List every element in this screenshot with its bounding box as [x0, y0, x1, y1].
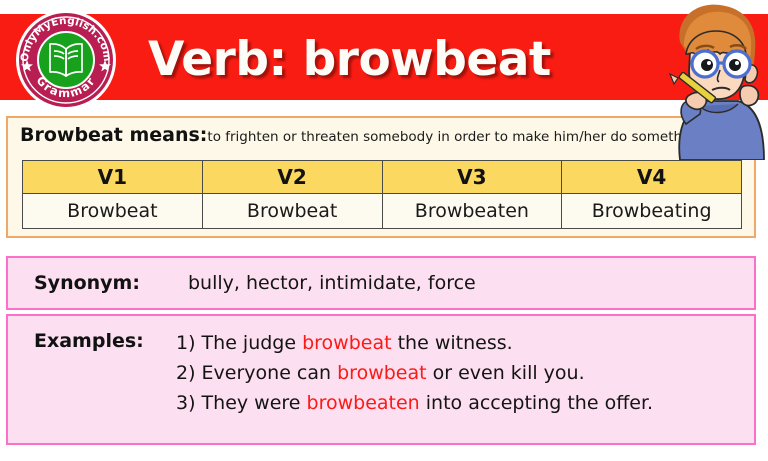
synonym-value: bully, hector, intimidate, force [188, 272, 476, 294]
definition-label: Browbeat means: [20, 124, 207, 146]
example-prefix: 2) Everyone can [176, 362, 337, 384]
examples-list: 1) The judge browbeat the witness.2) Eve… [176, 328, 744, 418]
example-suffix: into accepting the offer. [420, 392, 653, 414]
examples-label: Examples: [34, 330, 144, 352]
column-header-v2: V2 [202, 161, 382, 194]
verb-form-v3: Browbeaten [382, 194, 562, 229]
verb-forms-table: V1 V2 V3 V4 Browbeat Browbeat Browbeaten… [22, 160, 742, 229]
verb-form-v2: Browbeat [202, 194, 382, 229]
column-header-v4: V4 [562, 161, 742, 194]
definition-box: Browbeat means:to frighten or threaten s… [6, 116, 756, 238]
example-suffix: or even kill you. [427, 362, 585, 384]
synonym-box: Synonym: bully, hector, intimidate, forc… [6, 256, 756, 310]
example-prefix: 1) The judge [176, 332, 302, 354]
examples-box: Examples: 1) The judge browbeat the witn… [6, 314, 756, 445]
example-item: 2) Everyone can browbeat or even kill yo… [176, 358, 744, 388]
verb-form-v1: Browbeat [23, 194, 203, 229]
example-highlight: browbeaten [307, 392, 420, 414]
table-row: Browbeat Browbeat Browbeaten Browbeating [23, 194, 742, 229]
example-highlight: browbeat [302, 332, 391, 354]
example-prefix: 3) They were [176, 392, 307, 414]
logo-badge-icon: OnlyMyEnglish.com Grammar [14, 8, 118, 112]
definition-line: Browbeat means:to frighten or threaten s… [20, 124, 746, 146]
page-title: Verb: browbeat [148, 32, 551, 87]
site-logo[interactable]: OnlyMyEnglish.com Grammar [14, 8, 118, 112]
synonym-label: Synonym: [34, 272, 140, 294]
verb-form-v4: Browbeating [562, 194, 742, 229]
column-header-v3: V3 [382, 161, 562, 194]
example-highlight: browbeat [337, 362, 426, 384]
definition-text: to frighten or threaten somebody in orde… [207, 129, 703, 145]
example-item: 1) The judge browbeat the witness. [176, 328, 744, 358]
table-header-row: V1 V2 V3 V4 [23, 161, 742, 194]
example-suffix: the witness. [392, 332, 513, 354]
column-header-v1: V1 [23, 161, 203, 194]
example-item: 3) They were browbeaten into accepting t… [176, 388, 744, 418]
